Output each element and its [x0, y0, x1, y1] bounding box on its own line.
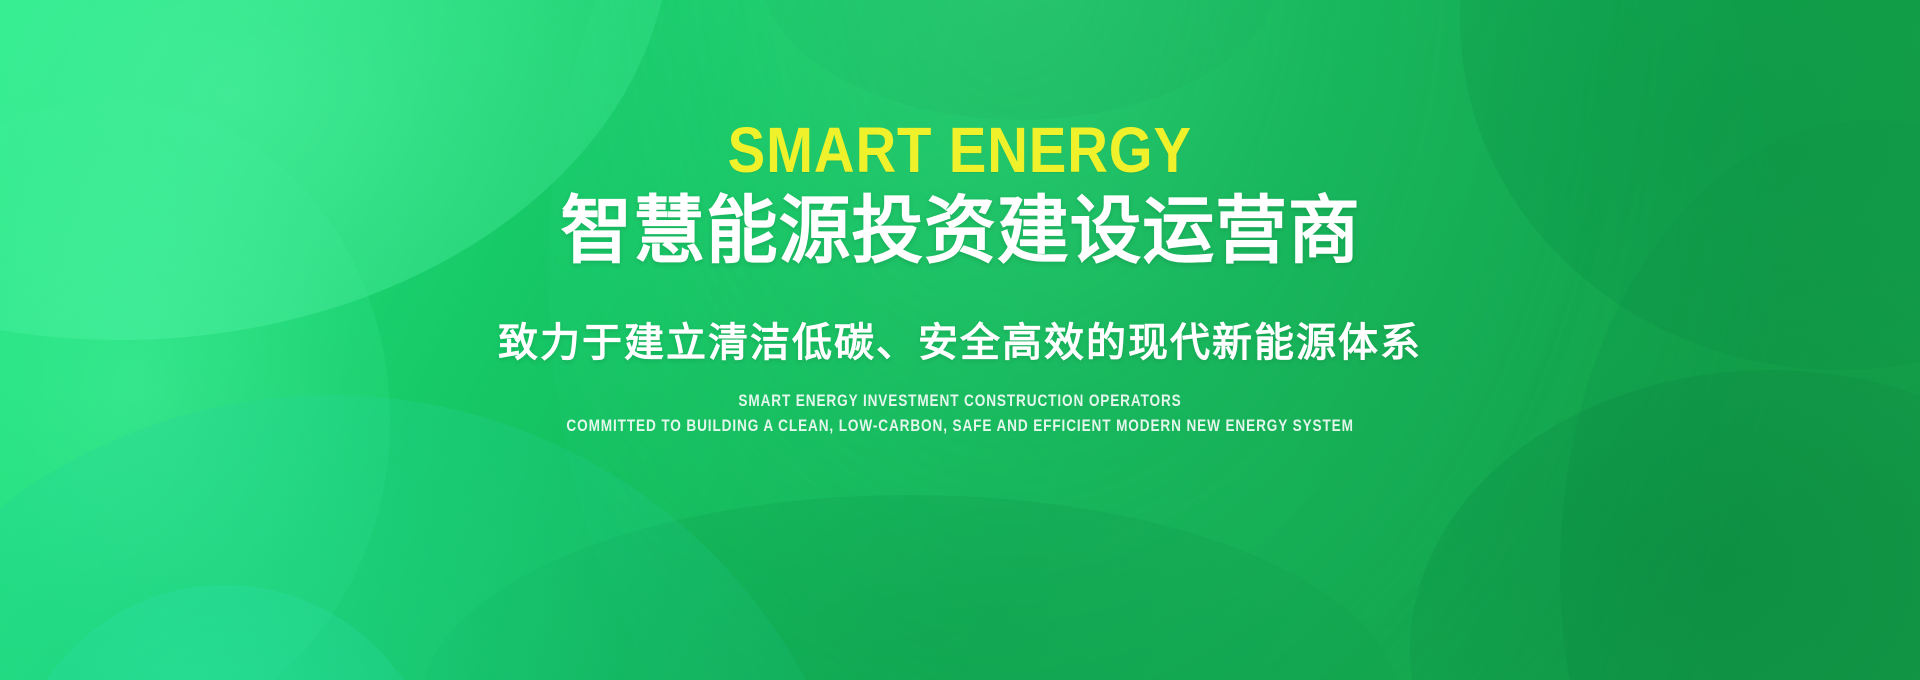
banner-content: SMART ENERGY 智慧能源投资建设运营商 致力于建立清洁低碳、安全高效的… — [0, 0, 1920, 680]
banner-subtitle-english-line-1: SMART ENERGY INVESTMENT CONSTRUCTION OPE… — [738, 389, 1181, 414]
smart-energy-banner: SMART ENERGY 智慧能源投资建设运营商 致力于建立清洁低碳、安全高效的… — [0, 0, 1920, 680]
banner-subtitle-english-block: SMART ENERGY INVESTMENT CONSTRUCTION OPE… — [468, 389, 1452, 438]
banner-subtitle-chinese: 致力于建立清洁低碳、安全高效的现代新能源体系 — [498, 319, 1422, 367]
banner-title-english: SMART ENERGY — [728, 118, 1192, 182]
banner-subtitle-english-line-2: COMMITTED TO BUILDING A CLEAN, LOW-CARBO… — [566, 414, 1353, 439]
banner-title-chinese: 智慧能源投资建设运营商 — [560, 190, 1360, 273]
